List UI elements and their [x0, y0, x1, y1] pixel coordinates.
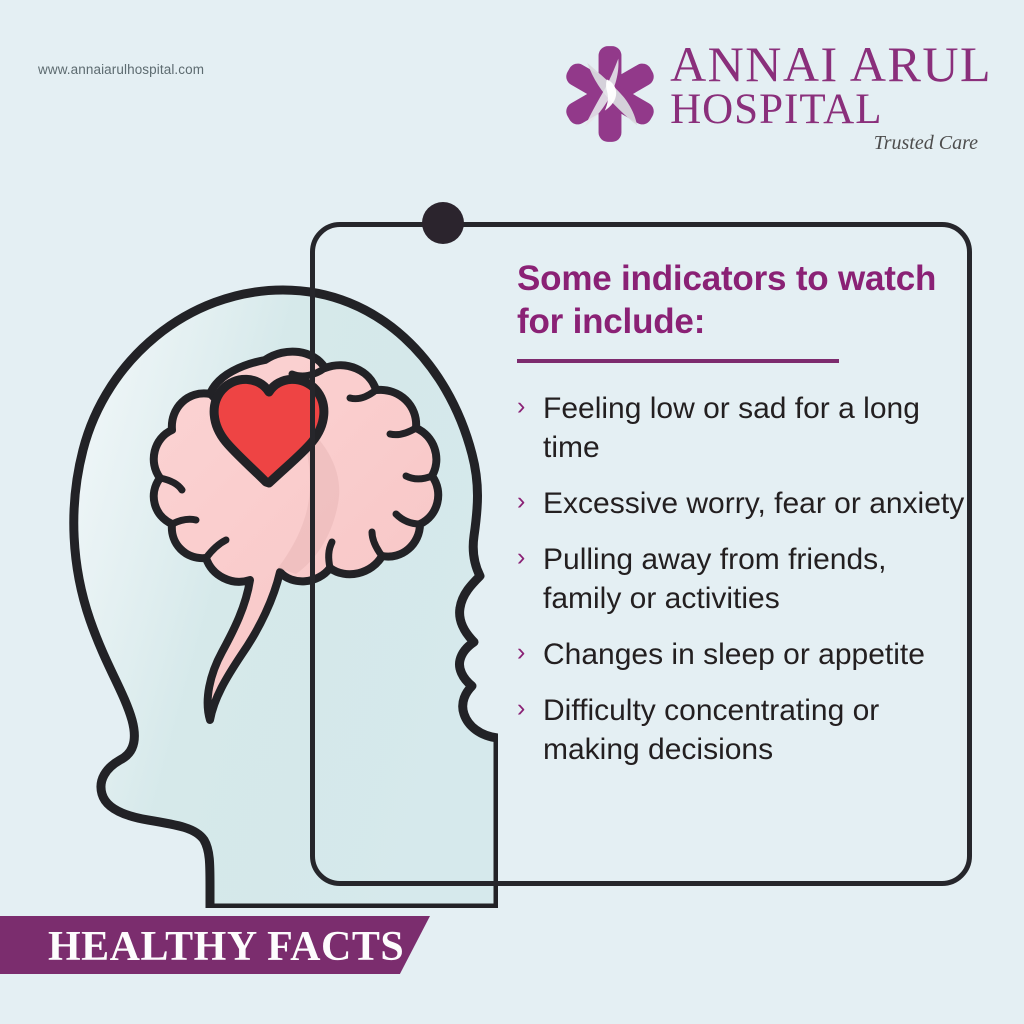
hospital-logo: ANNAI ARUL HOSPITAL Trusted Care [558, 40, 992, 155]
list-item: › Pulling away from friends, family or a… [517, 540, 969, 618]
list-item-text: Pulling away from friends, family or act… [543, 543, 886, 615]
infographic-poster: www.annaiarulhospital.com ANNAI ARUL HOS… [0, 0, 1024, 1024]
list-item-text: Excessive worry, fear or anxiety [543, 487, 964, 520]
logo-wordmark: ANNAI ARUL HOSPITAL Trusted Care [670, 40, 992, 155]
list-item-text: Feeling low or sad for a long time [543, 392, 920, 464]
indicator-list: › Feeling low or sad for a long time › E… [517, 389, 969, 769]
list-item: › Excessive worry, fear or anxiety [517, 484, 969, 523]
healthy-facts-label: HEALTHY FACTS [48, 923, 404, 971]
list-item: › Difficulty concentrating or making dec… [517, 691, 969, 769]
list-item-text: Difficulty concentrating or making decis… [543, 694, 879, 766]
logo-name-line2: HOSPITAL [670, 88, 882, 131]
medical-star-emblem-icon [558, 42, 662, 146]
headline-underline [517, 359, 839, 363]
chevron-right-icon: › [517, 390, 525, 424]
logo-name-line1: ANNAI ARUL [670, 40, 992, 88]
list-item: › Changes in sleep or appetite [517, 635, 969, 674]
list-item-text: Changes in sleep or appetite [543, 638, 925, 671]
callout-headline: Some indicators to watch for include: [517, 258, 969, 343]
list-item: › Feeling low or sad for a long time [517, 389, 969, 467]
chevron-right-icon: › [517, 485, 525, 519]
website-url: www.annaiarulhospital.com [38, 62, 204, 77]
logo-tagline: Trusted Care [874, 132, 978, 155]
chevron-right-icon: › [517, 541, 525, 575]
frame-connector-dot [422, 202, 464, 244]
chevron-right-icon: › [517, 636, 525, 670]
callout-content: Some indicators to watch for include: › … [517, 258, 969, 786]
chevron-right-icon: › [517, 692, 525, 726]
